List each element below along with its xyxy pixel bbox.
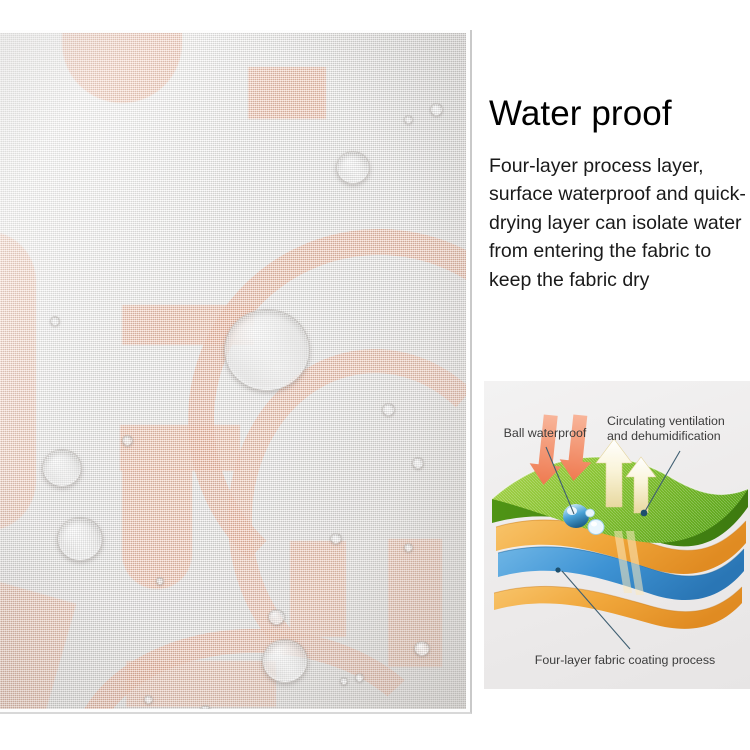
feature-description: Four-layer process layer, surface waterp…: [489, 152, 747, 295]
fabric-photo-frame: [0, 30, 472, 714]
water-droplet: [156, 577, 164, 585]
water-droplet: [412, 457, 424, 469]
fabric-photo: [0, 33, 466, 709]
water-droplet: [268, 609, 285, 625]
page-title: Water proof: [489, 96, 747, 133]
water-droplet: [262, 639, 308, 683]
product-feature-slide: Water proof Four-layer process layer, su…: [0, 0, 750, 750]
fabric-layer-diagram-panel: Ball waterproof Circulating ventilation …: [484, 381, 750, 689]
water-droplet: [414, 641, 430, 656]
water-droplet: [336, 151, 370, 184]
label-four-layer-coating: Four-layer fabric coating process: [500, 653, 750, 668]
water-droplet: [57, 517, 103, 561]
water-droplet: [355, 673, 364, 682]
feature-text-column: Water proof Four-layer process layer, su…: [489, 96, 747, 295]
water-droplet: [404, 115, 413, 124]
water-droplet: [382, 403, 395, 416]
water-droplet: [224, 309, 310, 391]
water-droplet: [122, 435, 133, 446]
water-droplet: [42, 449, 82, 487]
callout-dot: [641, 510, 648, 517]
label-ball-waterproof: Ball waterproof: [490, 426, 600, 441]
water-droplet: [430, 103, 443, 116]
water-droplet: [330, 533, 342, 544]
water-droplet: [200, 705, 211, 709]
water-droplet: [50, 316, 60, 326]
water-droplet: [404, 543, 413, 552]
label-circulating-ventilation: Circulating ventilation and dehumidifica…: [607, 414, 749, 444]
water-droplet: [144, 695, 153, 704]
water-droplet: [340, 677, 348, 685]
